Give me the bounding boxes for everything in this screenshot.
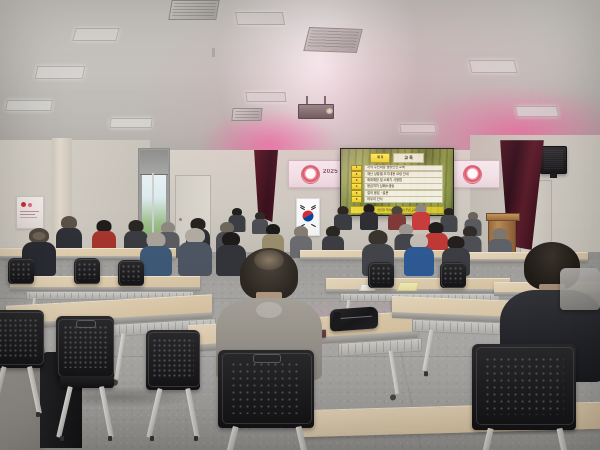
light-panel — [109, 118, 152, 128]
chair-backrest — [8, 258, 34, 284]
chair-foot — [108, 436, 112, 441]
bag-strap — [330, 312, 342, 331]
torso — [178, 242, 212, 276]
chair-foot — [194, 436, 198, 441]
poster-accent-dot — [21, 202, 26, 207]
slide-bullet-list: 1지역 주민대상 생활안전 교육2재난 상황별 초기대응 요령 안내3화재예방 … — [351, 166, 443, 207]
banner-emblem-right-icon — [463, 165, 482, 184]
head — [185, 228, 205, 243]
table-foot — [424, 371, 428, 376]
light-panel — [235, 12, 285, 25]
attendee — [404, 234, 434, 276]
head — [410, 234, 428, 248]
hvac-vent — [303, 27, 363, 53]
chair-backrest — [560, 268, 600, 310]
light-panel — [515, 106, 559, 117]
slide-bullet-row: 5질의 응답 · 설문 — [351, 191, 443, 196]
head — [222, 232, 240, 246]
slide-title-main: 교 육 — [393, 153, 423, 164]
bald-spot — [254, 250, 284, 270]
chair[interactable] — [56, 316, 114, 380]
chair-backrest — [368, 262, 394, 288]
slide-bullet-row: 1지역 주민대상 생활안전 교육 — [351, 166, 443, 171]
poster-text-line — [20, 217, 37, 218]
seminar-room-photo: 2025 교 육 제 목 교 육 1지역 주민대상 생활안전 교육2재난 상황별… — [0, 0, 600, 450]
lectern-top — [486, 213, 520, 221]
chair-backrest — [440, 262, 466, 288]
torso — [140, 246, 172, 276]
torso — [360, 212, 378, 230]
chair-backrest — [218, 350, 314, 428]
chair-backrest — [0, 310, 44, 368]
slide-bullet-number: 6 — [351, 196, 362, 203]
light-panel — [245, 92, 286, 102]
chair[interactable] — [368, 262, 394, 288]
seminar-table — [10, 276, 200, 288]
poster-text-line — [20, 214, 35, 215]
head — [147, 232, 166, 247]
chair-foot — [36, 412, 40, 417]
chair-handle[interactable] — [253, 354, 282, 363]
light-panel — [5, 100, 53, 111]
banner-text-left: 2025 — [323, 169, 338, 175]
slide-bullet-row: 2재난 상황별 초기대응 요령 안내 — [351, 172, 443, 177]
bag-zipper — [336, 316, 372, 320]
torso — [404, 247, 434, 276]
chair-backrest — [56, 316, 114, 380]
light-panel — [35, 66, 86, 79]
attendee — [360, 204, 378, 230]
poster-text-line — [20, 211, 39, 212]
light-panel — [399, 124, 436, 133]
chair[interactable] — [8, 258, 34, 284]
slide-bullet-text: 마무리 인사 — [364, 196, 443, 203]
trigram-bar — [311, 207, 316, 210]
chair-backrest — [472, 344, 576, 430]
chair[interactable] — [74, 258, 100, 284]
slide-title-chip: 제 목 — [370, 153, 390, 164]
wall-poster — [16, 196, 44, 229]
yellow-notepad — [397, 282, 420, 291]
banner-emblem-left-icon — [301, 165, 320, 184]
chair[interactable] — [218, 350, 314, 428]
wall-speaker — [540, 146, 567, 174]
chair-backrest — [146, 330, 200, 390]
door-knob[interactable] — [179, 218, 182, 221]
attendee — [178, 228, 212, 276]
projector-mount-arm — [324, 96, 326, 104]
chair[interactable] — [472, 344, 576, 430]
poster-accent-dot — [28, 203, 32, 207]
speaker-bracket — [550, 173, 557, 178]
projector-mount-arm — [306, 96, 308, 104]
chair[interactable] — [118, 260, 144, 286]
bald-spot — [33, 232, 46, 240]
hvac-vent — [168, 0, 220, 20]
chair[interactable] — [0, 310, 44, 368]
slide-title-bar: 제 목 교 육 — [370, 154, 424, 163]
chair-foot — [60, 436, 64, 441]
attendee — [140, 232, 172, 276]
chair-backrest — [118, 260, 144, 286]
chair-backrest — [74, 258, 100, 284]
slide-bullet-row: 4응급처치 심폐소생술 — [351, 184, 443, 189]
slide-bullet-row: 6마무리 인사 — [351, 197, 443, 202]
window-blind[interactable] — [140, 150, 168, 175]
head — [369, 230, 388, 245]
chair[interactable] — [560, 268, 600, 310]
chair[interactable] — [146, 330, 200, 390]
hvac-vent — [231, 108, 262, 121]
taeguk-circle — [300, 208, 315, 223]
ceiling-sprinkler — [212, 48, 215, 57]
projector-lens — [326, 108, 333, 114]
light-panel — [468, 60, 517, 73]
shoulder-bag — [330, 306, 378, 331]
chair-handle[interactable] — [76, 320, 97, 328]
light-panel — [72, 28, 120, 41]
chair-foot — [150, 436, 154, 441]
slide-bullet-row: 3화재예방 및 소화기 사용법 — [351, 178, 443, 183]
collar — [256, 302, 282, 318]
chair[interactable] — [440, 262, 466, 288]
